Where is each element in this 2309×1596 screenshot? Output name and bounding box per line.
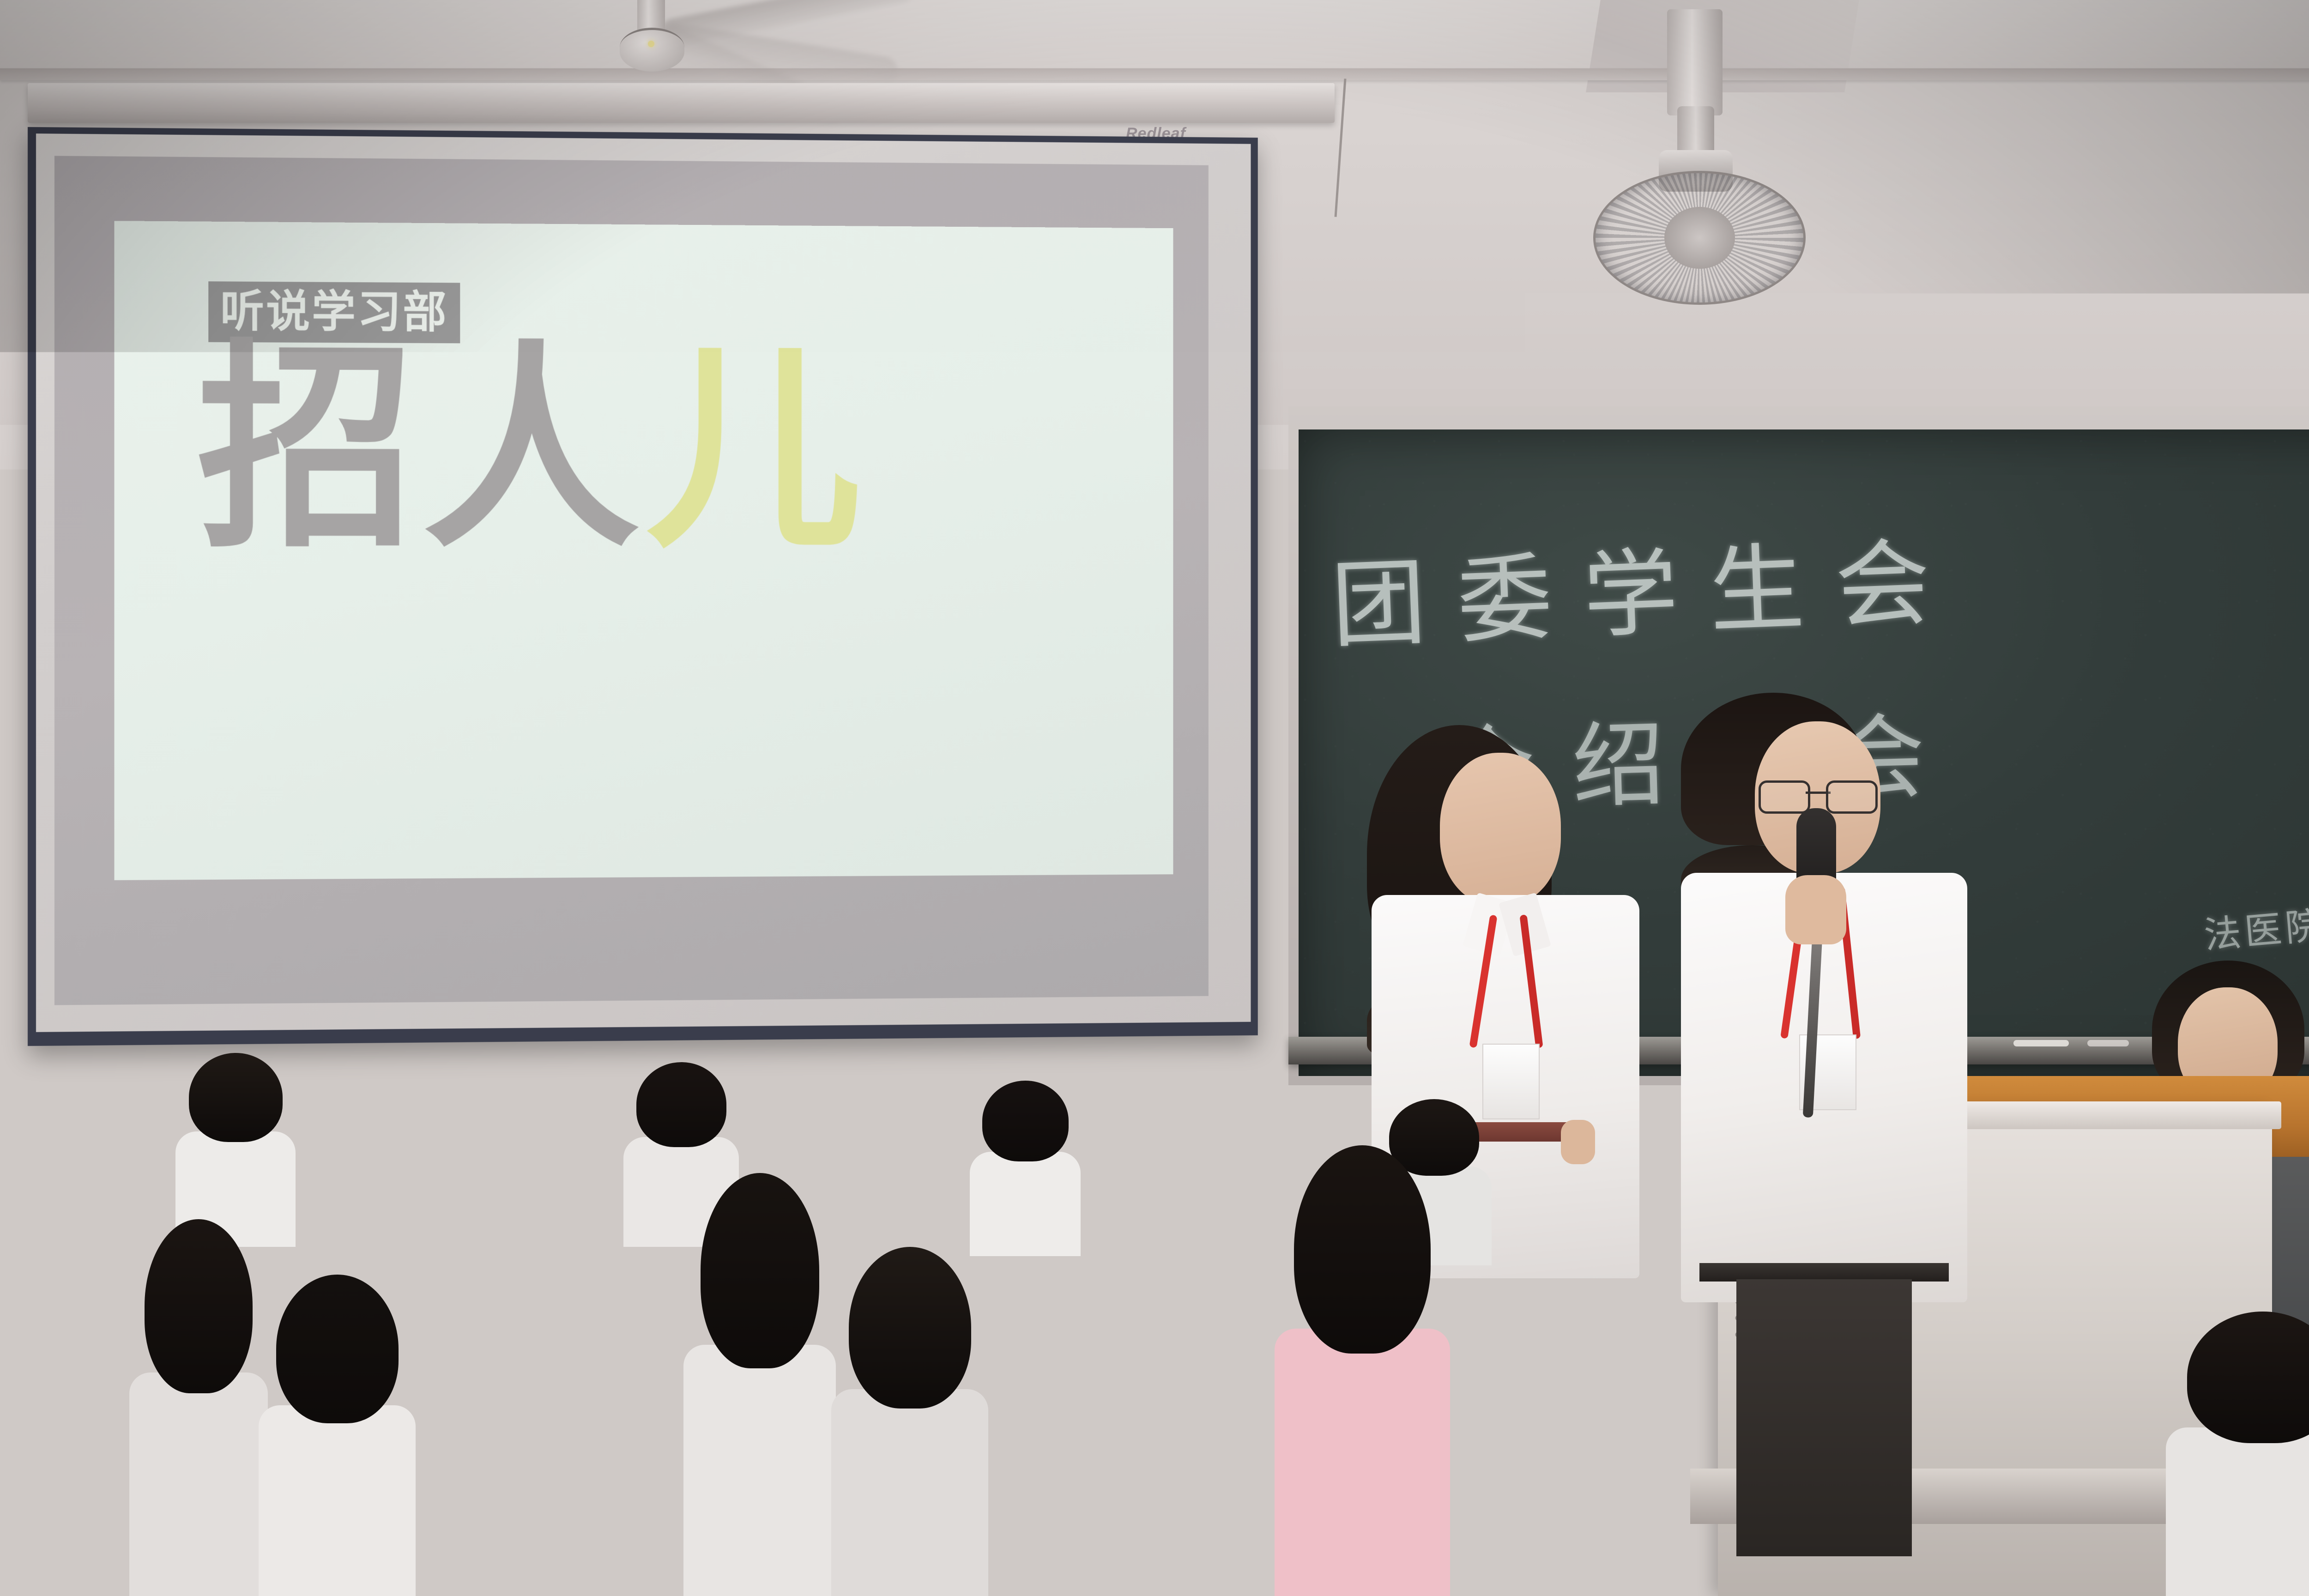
wall-fan-icon	[1561, 9, 1819, 296]
head-back	[434, 1316, 564, 1446]
fan-hub	[620, 28, 684, 72]
projection-screen: 听说学习部 招人儿	[28, 127, 1258, 1046]
torso-back	[1275, 1329, 1450, 1596]
fan-indicator-light	[648, 41, 654, 47]
trousers	[1736, 1279, 1912, 1556]
lens	[1826, 780, 1878, 814]
audience-member	[831, 1247, 988, 1596]
audience-member	[1275, 1145, 1450, 1596]
audience-member	[416, 1316, 582, 1596]
head-back	[701, 1173, 819, 1368]
head-back	[189, 1053, 283, 1142]
head-back	[636, 1062, 726, 1147]
ceiling	[0, 0, 2309, 69]
hand	[1785, 875, 1846, 944]
torso-back	[970, 1152, 1081, 1256]
belt	[1699, 1263, 1949, 1282]
audience-member	[683, 1173, 836, 1596]
audience-member	[1007, 1339, 1173, 1596]
torso-back	[416, 1430, 582, 1596]
wall-fan-bracket	[1667, 9, 1723, 115]
head-back	[1294, 1145, 1431, 1354]
projected-field: 听说学习部 招人儿	[54, 156, 1209, 1005]
slide-headline: 招人儿	[197, 339, 867, 560]
presentation-slide: 听说学习部 招人儿	[114, 221, 1173, 880]
head-back	[17, 1247, 136, 1409]
head-back	[145, 1219, 253, 1393]
torso-back	[259, 1405, 416, 1596]
head-back	[276, 1275, 399, 1423]
audience-member	[1441, 1302, 1602, 1596]
torso-back	[2166, 1427, 2309, 1596]
head-back	[2187, 1312, 2309, 1443]
torso-back	[1441, 1422, 1602, 1596]
ceiling-beam	[0, 68, 2309, 80]
audience-member	[2166, 1312, 2309, 1596]
head	[1440, 753, 1561, 905]
head-back	[1025, 1339, 1155, 1458]
glasses-icon	[1759, 780, 1878, 809]
head-back	[849, 1247, 971, 1409]
chalk-text-line-one: 团委学生会	[1329, 505, 1964, 666]
head-back	[982, 1081, 1069, 1161]
torso-back	[683, 1345, 836, 1596]
torso-back	[831, 1389, 988, 1596]
wall-fan-cage	[1593, 171, 1806, 305]
slide-headline-accent: 儿	[646, 323, 868, 578]
audience-member	[129, 1219, 268, 1596]
classroom-scene: Redleaf 听说学习部 招人儿 团委学生会 介绍大会 法医院	[0, 0, 2309, 1596]
audience-member	[259, 1275, 416, 1596]
chalk-stick[interactable]	[2087, 1040, 2129, 1046]
audience-member	[970, 1081, 1081, 1256]
head-back	[1459, 1302, 1585, 1438]
lens	[1759, 780, 1810, 814]
screen-surface: 听说学习部 招人儿	[36, 133, 1251, 1032]
hand	[1561, 1120, 1595, 1164]
chalk-signature: 法医院	[2201, 895, 2309, 960]
slide-headline-primary: 招人	[197, 320, 646, 578]
torso-back	[1007, 1444, 1173, 1596]
audience-member	[175, 1053, 296, 1247]
male-host	[1681, 693, 1967, 1302]
chalk-stick[interactable]	[2013, 1040, 2069, 1046]
torso-back	[129, 1372, 268, 1596]
projector-screen-housing	[28, 83, 1335, 123]
